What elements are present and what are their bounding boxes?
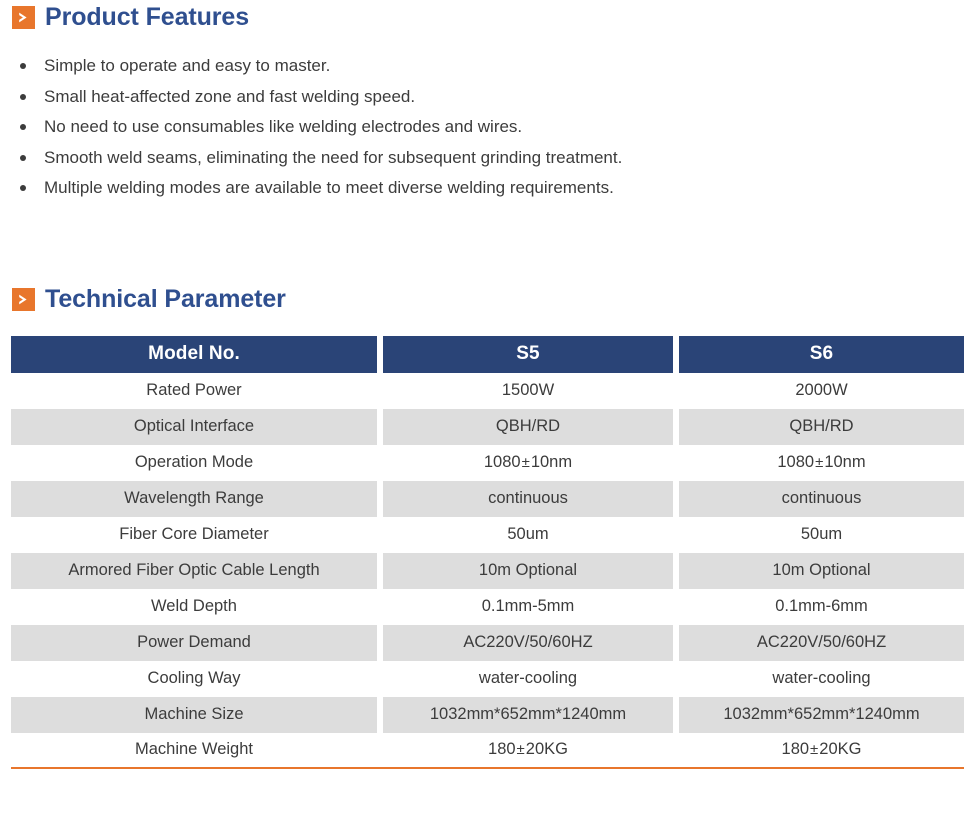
table-row: Cooling Waywater-coolingwater-cooling (11, 661, 964, 697)
cell-s6: 50um (679, 517, 964, 553)
cell-s5: 10m Optional (383, 553, 673, 589)
cell-s5: 1032mm*652mm*1240mm (383, 697, 673, 733)
cell-s6: 1080±10nm (679, 445, 964, 481)
table-body: Rated Power1500W2000WOptical InterfaceQB… (11, 373, 964, 769)
table-row: Weld Depth0.1mm-5mm0.1mm-6mm (11, 589, 964, 625)
table-header-row: Model No. S5 S6 (11, 336, 964, 373)
bullet-icon (20, 155, 26, 161)
row-label: Weld Depth (11, 589, 377, 625)
column-header-s6: S6 (679, 336, 964, 373)
cell-s6: 0.1mm-6mm (679, 589, 964, 625)
list-item: No need to use consumables like welding … (0, 112, 976, 143)
product-features-heading: Product Features (12, 5, 976, 30)
list-item: Small heat-affected zone and fast weldin… (0, 82, 976, 113)
table-row: Power DemandAC220V/50/60HZAC220V/50/60HZ (11, 625, 964, 661)
cell-s5: 180±20KG (383, 733, 673, 769)
row-label: Cooling Way (11, 661, 377, 697)
cell-s5: 1500W (383, 373, 673, 409)
table-header: Model No. S5 S6 (11, 336, 964, 373)
table-row: Machine Weight180±20KG180±20KG (11, 733, 964, 769)
cell-s5: 50um (383, 517, 673, 553)
cell-s5: QBH/RD (383, 409, 673, 445)
row-label: Fiber Core Diameter (11, 517, 377, 553)
bullet-icon (20, 124, 26, 130)
bullet-icon (20, 185, 26, 191)
row-label: Machine Weight (11, 733, 377, 769)
list-item: Simple to operate and easy to master. (0, 51, 976, 82)
column-header-model: Model No. (11, 336, 377, 373)
specification-table-container: Model No. S5 S6 Rated Power1500W2000WOpt… (11, 336, 964, 769)
row-label: Wavelength Range (11, 481, 377, 517)
cell-s6: 1032mm*652mm*1240mm (679, 697, 964, 733)
row-label: Machine Size (11, 697, 377, 733)
cell-s6: 180±20KG (679, 733, 964, 769)
specification-table: Model No. S5 S6 Rated Power1500W2000WOpt… (11, 336, 964, 769)
cell-s6: AC220V/50/60HZ (679, 625, 964, 661)
table-row: Machine Size1032mm*652mm*1240mm1032mm*65… (11, 697, 964, 733)
cell-s5: AC220V/50/60HZ (383, 625, 673, 661)
technical-parameter-title: Technical Parameter (45, 287, 286, 312)
table-row: Armored Fiber Optic Cable Length10m Opti… (11, 553, 964, 589)
list-item-text: Simple to operate and easy to master. (44, 56, 330, 75)
product-features-list: Simple to operate and easy to master. Sm… (0, 51, 976, 204)
plus-minus-symbol: ± (516, 741, 526, 758)
row-label: Rated Power (11, 373, 377, 409)
plus-minus-symbol: ± (814, 454, 824, 471)
cell-s5: 1080±10nm (383, 445, 673, 481)
list-item-text: No need to use consumables like welding … (44, 117, 522, 136)
list-item: Smooth weld seams, eliminating the need … (0, 143, 976, 174)
cell-s6: QBH/RD (679, 409, 964, 445)
bullet-icon (20, 63, 26, 69)
plus-minus-symbol: ± (521, 454, 531, 471)
row-label: Power Demand (11, 625, 377, 661)
product-features-title: Product Features (45, 5, 249, 30)
section-spacer (0, 204, 976, 287)
table-row: Wavelength Rangecontinuouscontinuous (11, 481, 964, 517)
cell-s5: 0.1mm-5mm (383, 589, 673, 625)
cell-s6: 2000W (679, 373, 964, 409)
table-row: Fiber Core Diameter50um50um (11, 517, 964, 553)
row-label: Operation Mode (11, 445, 377, 481)
cell-s6: 10m Optional (679, 553, 964, 589)
chevron-right-square-icon (12, 288, 35, 311)
cell-s6: water-cooling (679, 661, 964, 697)
table-row: Operation Mode1080±10nm1080±10nm (11, 445, 964, 481)
list-item-text: Smooth weld seams, eliminating the need … (44, 148, 622, 167)
cell-s5: continuous (383, 481, 673, 517)
cell-s5: water-cooling (383, 661, 673, 697)
technical-parameter-heading: Technical Parameter (12, 287, 976, 312)
chevron-right-square-icon (12, 6, 35, 29)
list-item-text: Small heat-affected zone and fast weldin… (44, 87, 415, 106)
bullet-icon (20, 94, 26, 100)
cell-s6: continuous (679, 481, 964, 517)
column-header-s5: S5 (383, 336, 673, 373)
row-label: Optical Interface (11, 409, 377, 445)
table-row: Optical InterfaceQBH/RDQBH/RD (11, 409, 964, 445)
plus-minus-symbol: ± (809, 741, 819, 758)
list-item-text: Multiple welding modes are available to … (44, 178, 614, 197)
list-item: Multiple welding modes are available to … (0, 173, 976, 204)
row-label: Armored Fiber Optic Cable Length (11, 553, 377, 589)
table-row: Rated Power1500W2000W (11, 373, 964, 409)
